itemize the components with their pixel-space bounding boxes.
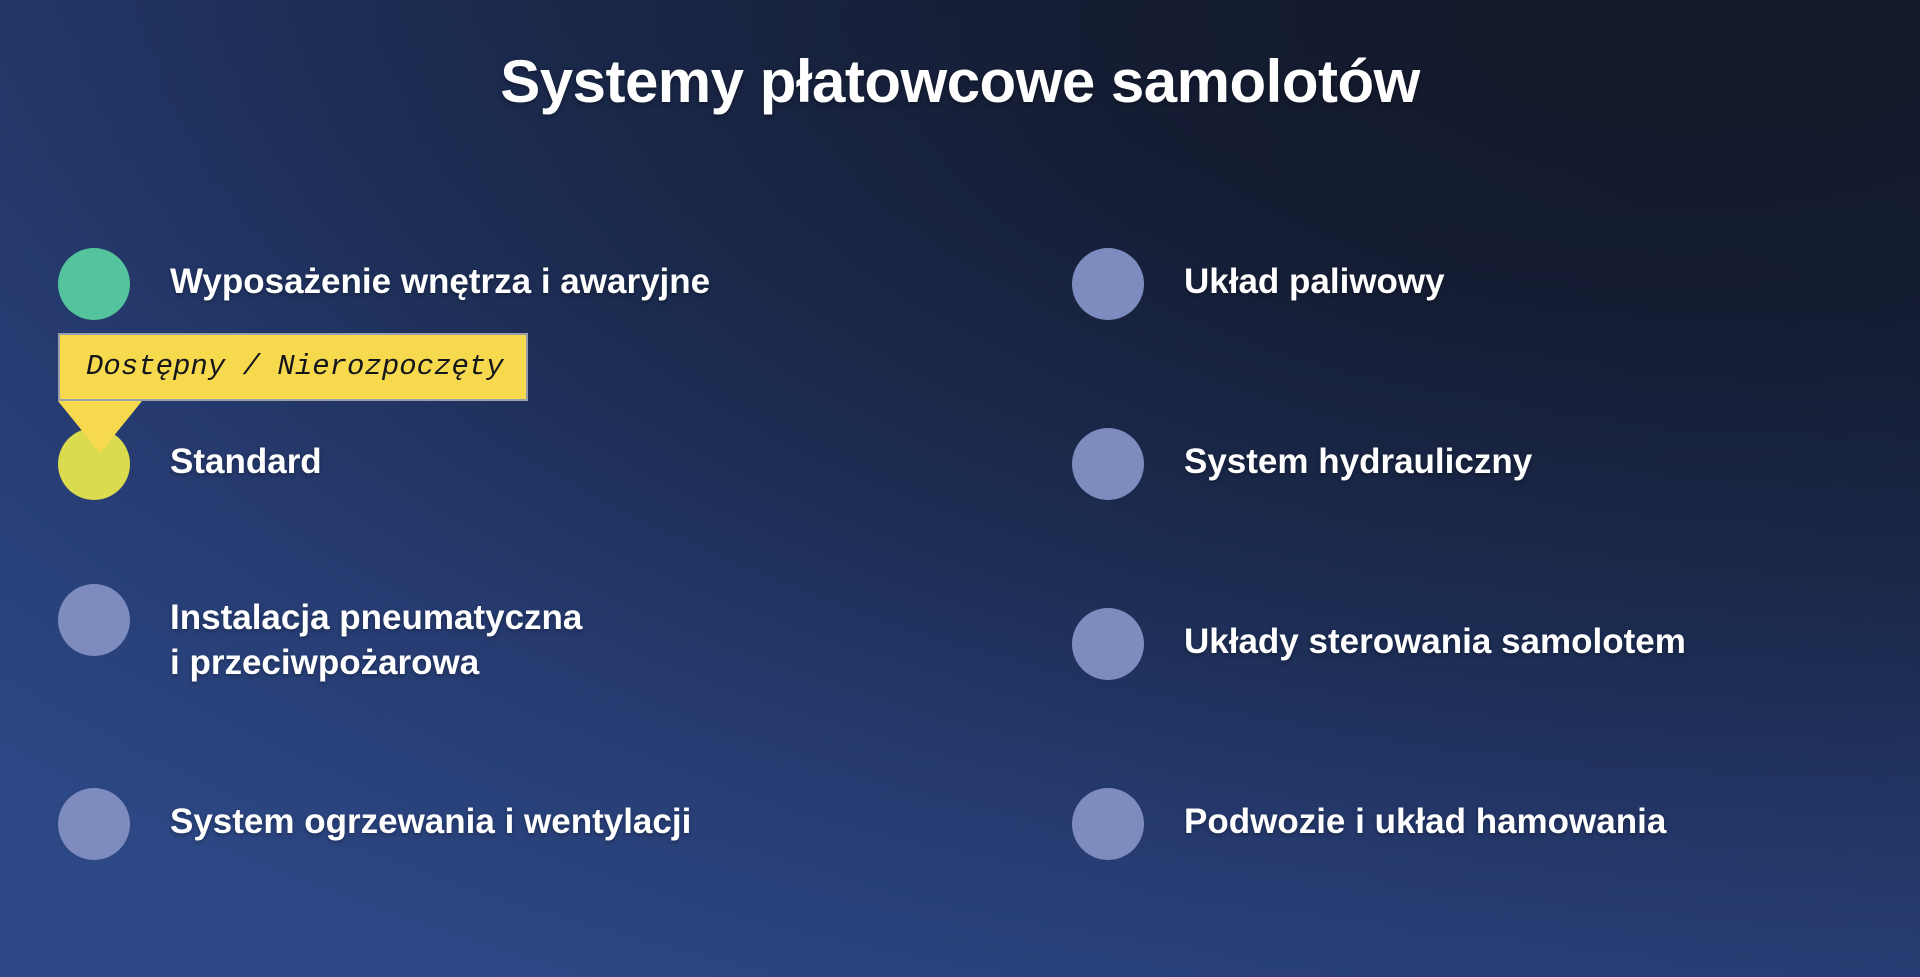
system-item-right-1[interactable]: Układ paliwowy <box>1072 246 1445 320</box>
system-item-left-3[interactable]: Instalacja pneumatyczna i przeciwpożarow… <box>58 582 582 686</box>
system-item-label: Podwozie i układ hamowania <box>1184 786 1666 845</box>
status-dot-inactive-icon[interactable] <box>1072 428 1144 500</box>
system-item-label: System ogrzewania i wentylacji <box>170 786 691 845</box>
page-title: Systemy płatowcowe samolotów <box>0 48 1920 115</box>
status-dot-inactive-icon[interactable] <box>58 584 130 656</box>
system-item-label: Instalacja pneumatyczna i przeciwpożarow… <box>170 582 582 686</box>
status-dot-inactive-icon[interactable] <box>1072 608 1144 680</box>
tooltip-arrow-icon <box>58 401 142 453</box>
system-item-right-3[interactable]: Układy sterowania samolotem <box>1072 606 1686 680</box>
status-dot-inactive-icon[interactable] <box>1072 788 1144 860</box>
system-item-right-2[interactable]: System hydrauliczny <box>1072 426 1532 500</box>
system-item-label: Standard <box>170 426 322 485</box>
status-dot-inactive-icon[interactable] <box>1072 248 1144 320</box>
status-dot-inactive-icon[interactable] <box>58 788 130 860</box>
slide-canvas: Systemy płatowcowe samolotów Wyposażenie… <box>0 0 1920 977</box>
system-item-label: Układ paliwowy <box>1184 246 1445 305</box>
status-tooltip-text: Dostępny / Nierozpoczęty <box>58 333 528 401</box>
system-item-left-4[interactable]: System ogrzewania i wentylacji <box>58 786 691 860</box>
system-item-label: Układy sterowania samolotem <box>1184 606 1686 665</box>
system-item-label: Wyposażenie wnętrza i awaryjne <box>170 246 710 305</box>
system-item-label: System hydrauliczny <box>1184 426 1532 485</box>
system-item-right-4[interactable]: Podwozie i układ hamowania <box>1072 786 1666 860</box>
status-dot-green-icon[interactable] <box>58 248 130 320</box>
status-tooltip: Dostępny / Nierozpoczęty <box>58 333 528 401</box>
system-item-left-1[interactable]: Wyposażenie wnętrza i awaryjne <box>58 246 710 320</box>
